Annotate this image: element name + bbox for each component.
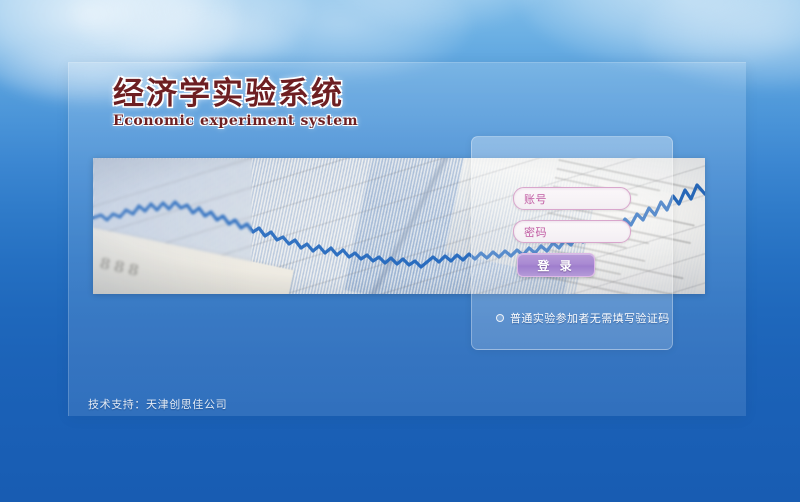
login-submit-button-label: 登 录 (537, 257, 574, 274)
footer-credit: 技术支持：天津创思佳公司 (88, 396, 227, 412)
verification-notice: 普通实验参加者无需填写验证码 (496, 310, 670, 326)
circle-bullet-icon (496, 314, 504, 322)
page-title-chinese: 经济学实验系统 (113, 78, 413, 111)
cloud-decoration (520, 0, 800, 70)
verification-notice-text: 普通实验参加者无需填写验证码 (510, 310, 670, 326)
login-submit-button[interactable]: 登 录 (517, 253, 595, 277)
password-input-label: 密码 (524, 224, 547, 240)
password-input[interactable]: 密码 (513, 220, 631, 243)
page-title: 经济学实验系统 Economic experiment system (113, 78, 413, 129)
login-panel: 账号 密码 登 录 普通实验参加者无需填写验证码 (471, 136, 673, 350)
page-title-english: Economic experiment system (113, 113, 413, 129)
login-page: 经济学实验系统 Economic experiment system 888 (0, 0, 800, 502)
account-input-label: 账号 (524, 191, 547, 207)
cloud-decoration (70, 0, 310, 70)
cloud-decoration (330, 0, 550, 30)
account-input[interactable]: 账号 (513, 187, 631, 210)
